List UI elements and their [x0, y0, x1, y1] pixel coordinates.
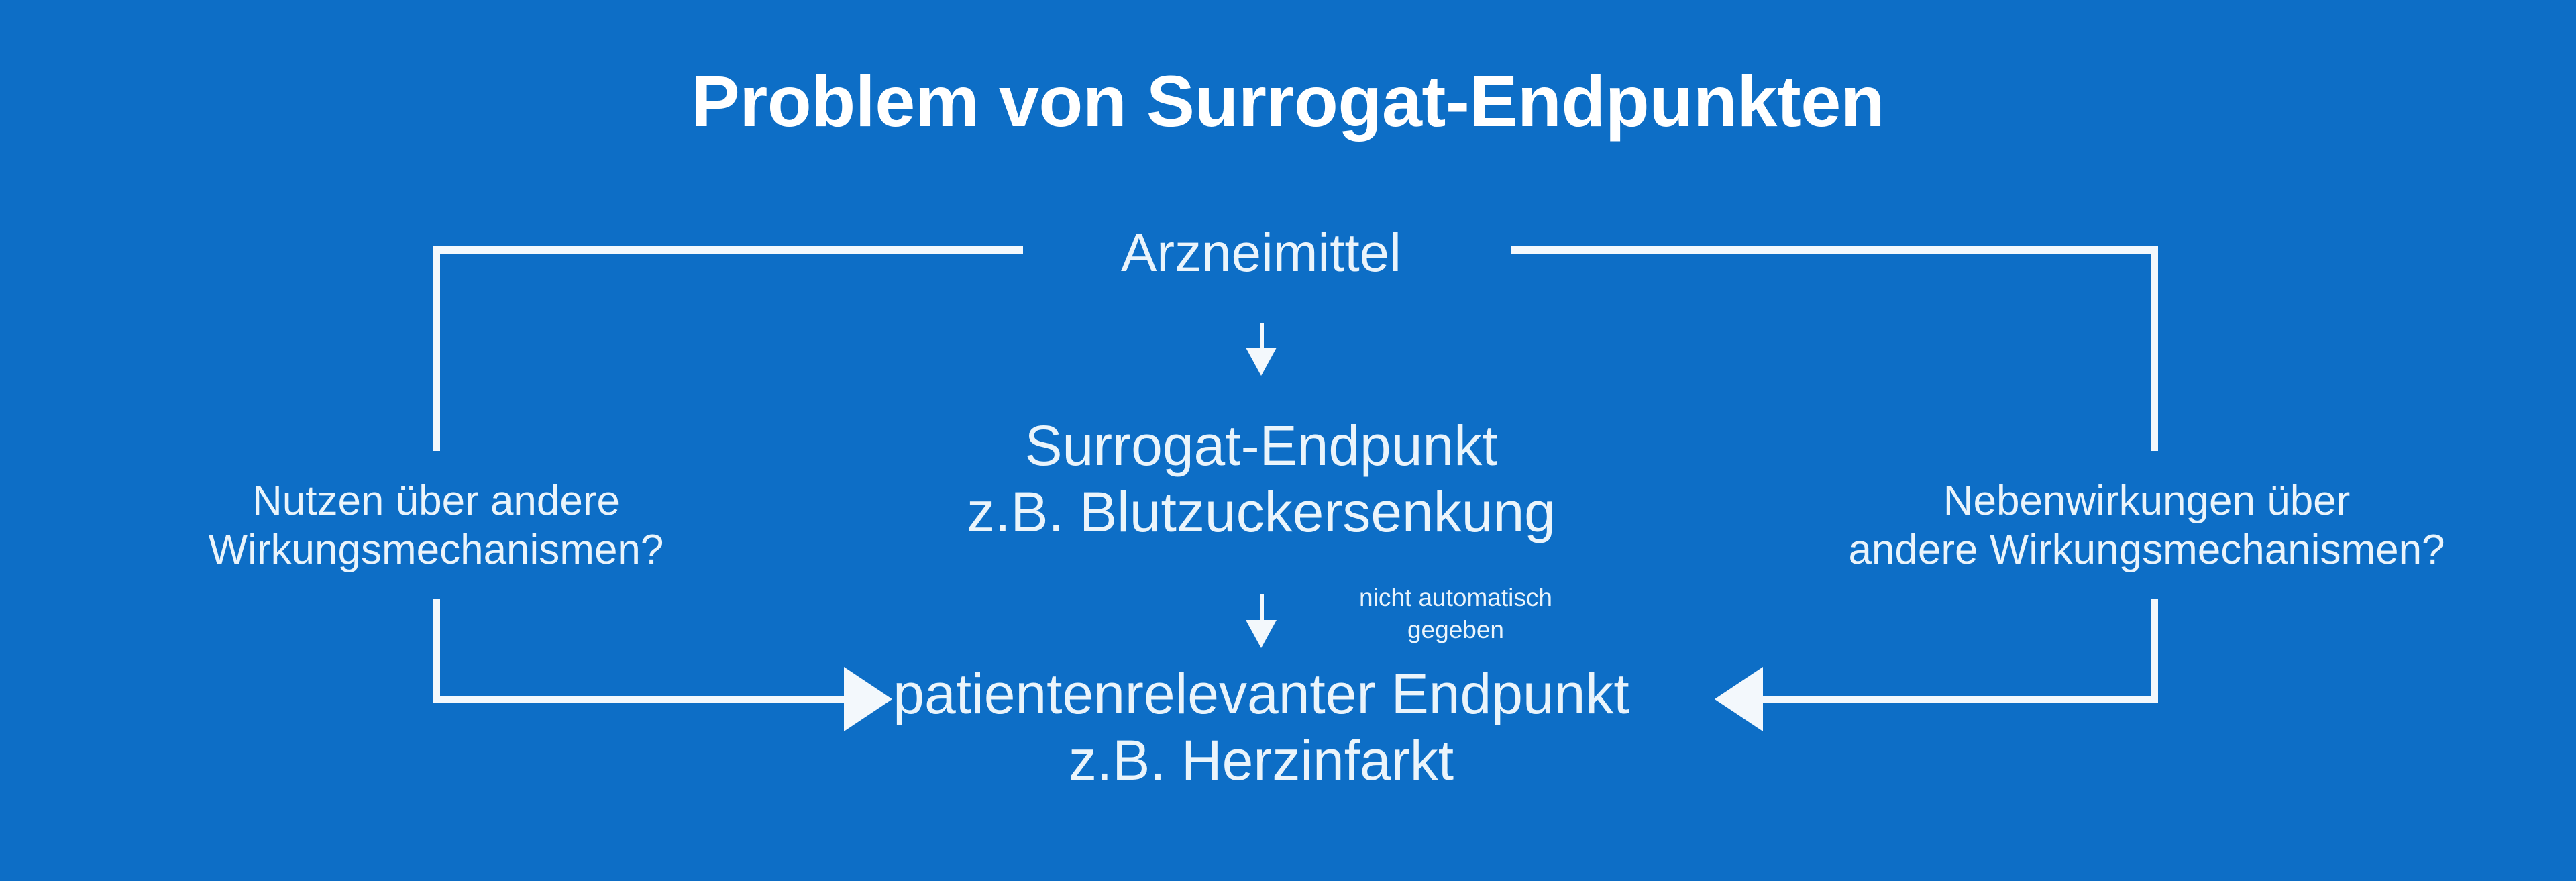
- arrow-down-surrogate-to-patient-icon: [1257, 594, 1266, 648]
- node-patientenrelevanter-endpunkt-line2: z.B. Herzinfarkt: [758, 727, 1764, 794]
- node-surrogat-endpunkt-line2: z.B. Blutzuckersenkung: [792, 479, 1731, 546]
- diagram-canvas: Problem von Surrogat-Endpunkten Arzneimi…: [0, 0, 2576, 881]
- label-left-branch-line1: Nutzen über andere: [134, 476, 738, 525]
- node-patientenrelevanter-endpunkt-line1: patientenrelevanter Endpunkt: [758, 661, 1764, 727]
- label-right-branch-line1: Nebenwirkungen über: [1831, 476, 2462, 525]
- label-right-branch: Nebenwirkungen über andere Wirkungsmecha…: [1831, 476, 2462, 574]
- left-bracket-vertical-upper: [433, 246, 440, 451]
- left-bracket-vertical-lower: [433, 599, 440, 703]
- node-patientenrelevanter-endpunkt: patientenrelevanter Endpunkt z.B. Herzin…: [758, 661, 1764, 794]
- label-right-branch-line2: andere Wirkungsmechanismen?: [1831, 525, 2462, 574]
- node-surrogat-endpunkt-line1: Surrogat-Endpunkt: [792, 413, 1731, 479]
- page-title: Problem von Surrogat-Endpunkten: [0, 62, 2576, 142]
- node-surrogat-endpunkt: Surrogat-Endpunkt z.B. Blutzuckersenkung: [792, 413, 1731, 546]
- arrow-down-drug-to-surrogate-icon: [1257, 323, 1266, 374]
- right-bracket-bottom-line: [1763, 696, 2158, 703]
- node-arzneimittel-label: Arzneimittel: [926, 221, 1597, 284]
- right-bracket-vertical-upper: [2151, 246, 2158, 451]
- annotation-nicht-automatisch-gegeben: nicht automatisch gegeben: [1315, 582, 1597, 646]
- node-arzneimittel: Arzneimittel: [926, 221, 1597, 284]
- annotation-line1: nicht automatisch: [1315, 582, 1597, 614]
- label-left-branch: Nutzen über andere Wirkungsmechanismen?: [134, 476, 738, 574]
- right-bracket-vertical-lower: [2151, 599, 2158, 703]
- label-left-branch-line2: Wirkungsmechanismen?: [134, 525, 738, 574]
- annotation-line2: gegeben: [1315, 614, 1597, 646]
- right-bracket-top-line: [1511, 246, 2158, 254]
